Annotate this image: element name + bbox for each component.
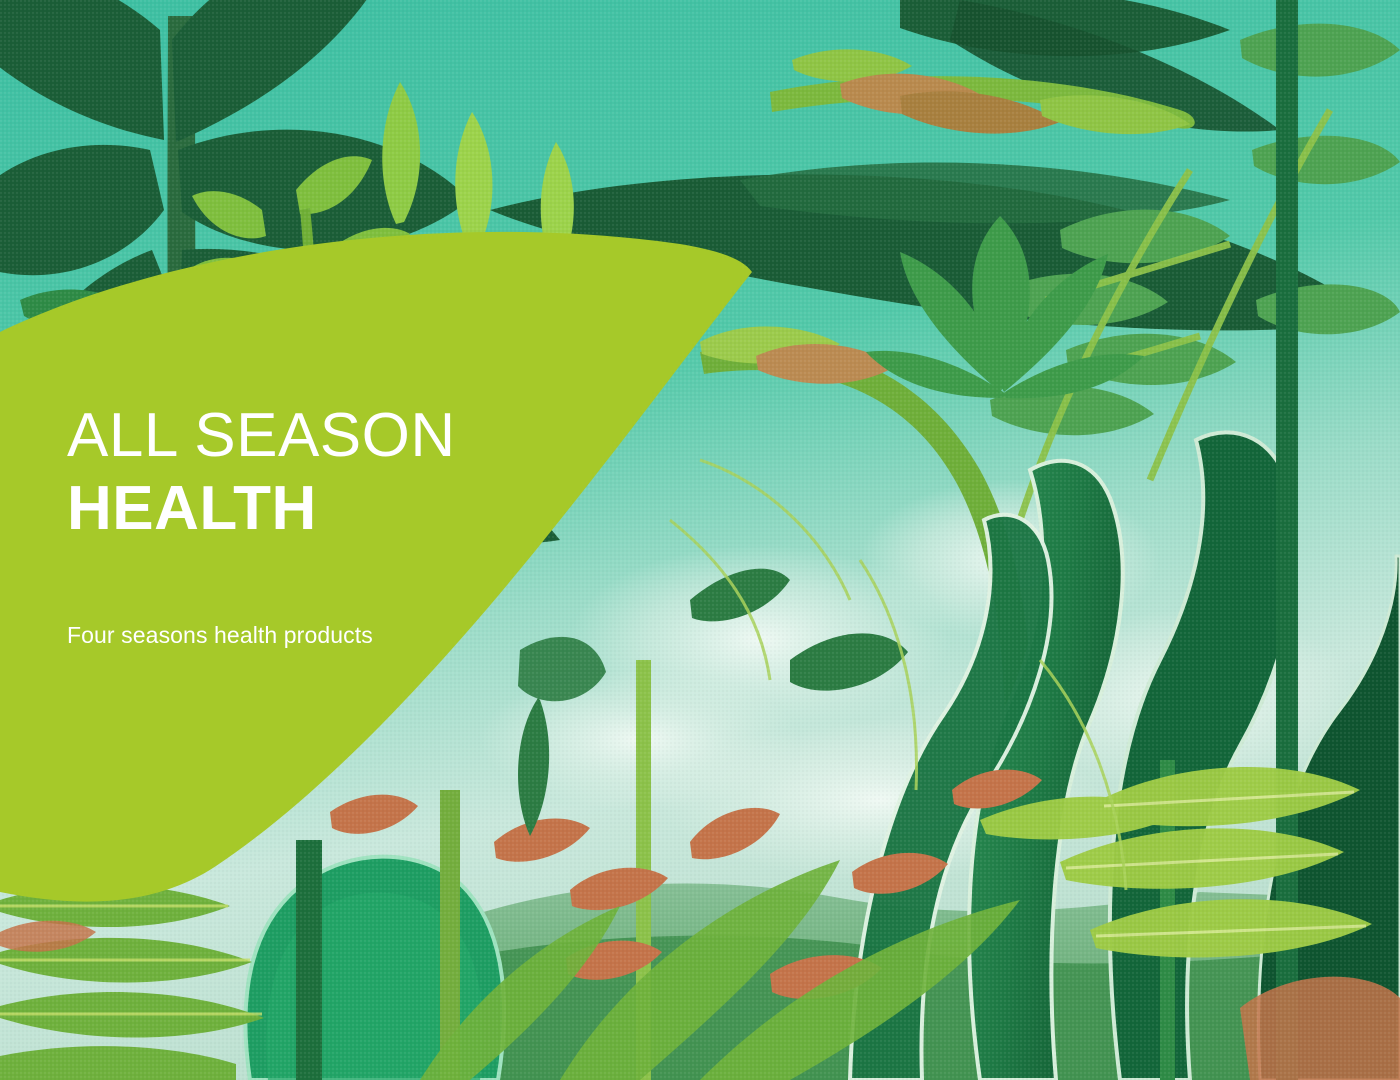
poster-canvas: ALL SEASON HEALTH Four seasons health pr…	[0, 0, 1400, 1080]
page-title-line-2: HEALTH	[67, 477, 687, 540]
headline-block: ALL SEASON HEALTH Four seasons health pr…	[67, 404, 687, 649]
page-subtitle: Four seasons health products	[67, 622, 687, 649]
page-title-line-1: ALL SEASON	[67, 404, 687, 467]
